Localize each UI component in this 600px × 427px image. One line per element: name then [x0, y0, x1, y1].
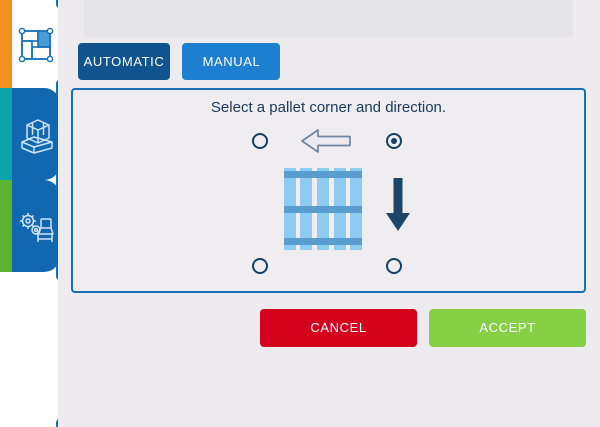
application-window: AUTOMATIC MANUAL Select a pallet corner … — [0, 0, 600, 427]
corner-radio-top-left[interactable] — [252, 133, 268, 149]
sidebar-face — [12, 272, 58, 427]
sidebar-item-pattern[interactable] — [0, 0, 58, 88]
sidebar-item-load[interactable] — [0, 88, 58, 180]
mode-button-group: AUTOMATIC MANUAL — [78, 43, 280, 80]
stacked-boxes-icon — [14, 113, 56, 155]
corner-radio-bottom-left[interactable] — [252, 258, 268, 274]
top-header-bar — [84, 0, 573, 37]
pallet-graphic — [284, 168, 362, 250]
arrow-left-icon[interactable] — [299, 127, 353, 155]
gears-machine-icon — [14, 205, 56, 247]
panel-title: Select a pallet corner and direction. — [73, 99, 584, 116]
accept-button[interactable]: ACCEPT — [429, 309, 586, 347]
cancel-button[interactable]: CANCEL — [260, 309, 417, 347]
sidebar-item-machine[interactable] — [0, 180, 58, 272]
pallet-selection-panel: Select a pallet corner and direction. — [71, 88, 586, 293]
sidebar — [0, 0, 58, 427]
pallet-pattern-icon — [14, 23, 56, 65]
corner-radio-top-right[interactable] — [386, 133, 402, 149]
tab-automatic[interactable]: AUTOMATIC — [78, 43, 170, 80]
arrow-down-icon[interactable] — [383, 176, 413, 234]
sidebar-filler — [0, 272, 58, 427]
corner-radio-bottom-right[interactable] — [386, 258, 402, 274]
tab-manual[interactable]: MANUAL — [182, 43, 280, 80]
